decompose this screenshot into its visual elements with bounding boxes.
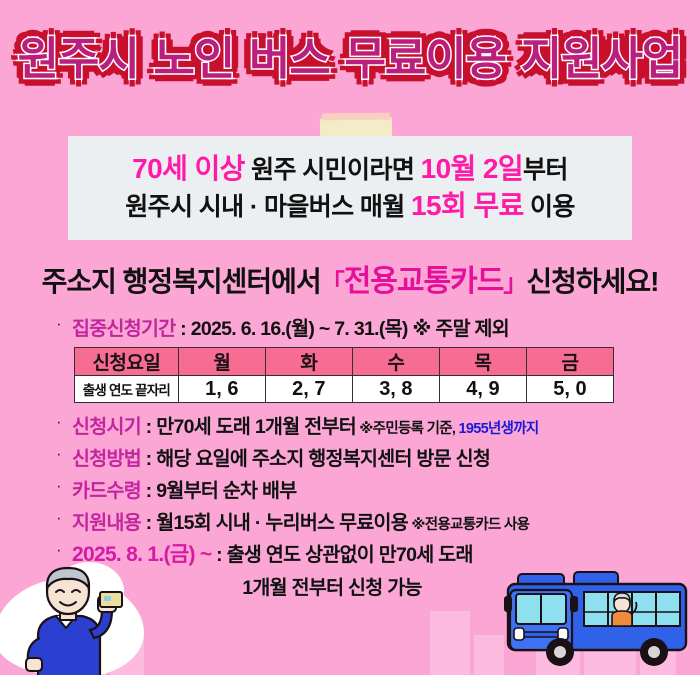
bus-illustration [496,568,696,678]
list-item: · 2025. 8. 1.(금) ~ : 출생 연도 상관없이 만70세 도래 [56,538,656,568]
bullet-note: ※주민등록 기준, [356,421,459,437]
list-item: · 카드수령 : 9월부터 순차 배부 [56,474,656,503]
bullet-note: ※전용교통카드 사용 [408,517,529,533]
table-header-cell: 화 [265,348,352,376]
table-header-cell: 신청요일 [75,348,179,376]
table-row: 출생 연도 끝자리 1, 6 2, 7 3, 8 4, 9 5, 0 [75,376,614,403]
info-date-highlight: 10월 2일 [421,153,523,184]
bullet-label: 신청방법 [72,448,141,470]
poster-root: 원주시 노인 버스 무료이용 지원사업 원주시 노인 버스 무료이용 지원사업 … [0,0,700,700]
table-cell: 2, 7 [265,376,352,403]
bullet-dot-icon: · [56,506,72,531]
list-item: · 지원내용 : 월15회 시내 · 누리버스 무료이용 ※전용교통카드 사용 [56,506,656,535]
bullet-list: · 집중신청기간 : 2025. 6. 16.(월) ~ 7. 31.(목) ※… [56,312,656,600]
info-age-highlight: 70세 이상 [132,153,245,184]
bullet-separator: : [175,318,190,340]
table-row-header: 출생 연도 끝자리 [75,376,179,403]
headline-bracket-open: 「 [321,270,344,297]
info-free-highlight: 15회 무료 [411,190,524,221]
poster-title-shadow: 원주시 노인 버스 무료이용 지원사업 [0,22,700,87]
bullet-separator: : [141,448,156,470]
bullet-separator: : [141,480,156,502]
table-header-cell: 월 [178,348,265,376]
table-header-cell: 수 [352,348,439,376]
list-item: · 신청시기 : 만70세 도래 1개월 전부터 ※주민등록 기준, 1955년… [56,410,656,439]
bullet-note-blue: 1955년생까지 [459,421,539,437]
bullet-text: 출생 연도 상관없이 만70세 도래 [227,544,473,566]
bullet-text: 월15회 시내 · 누리버스 무료이용 [156,512,408,534]
list-item: · 신청방법 : 해당 요일에 주소지 행정복지센터 방문 신청 [56,442,656,471]
info-box-line-2: 원주시 시내 · 마을버스 매월 15회 무료 이용 [125,188,575,225]
info-line1-plain-b: 부터 [523,156,568,184]
table-cell: 3, 8 [352,376,439,403]
bullet-dot-icon: · [56,538,72,563]
elderly-man-svg [8,566,138,678]
list-item: · 집중신청기간 : 2025. 6. 16.(월) ~ 7. 31.(목) ※… [56,312,656,341]
headline: 주소지 행정복지센터에서「전용교통카드」신청하세요! [0,256,700,300]
bullet-text: 해당 요일에 주소지 행정복지센터 방문 신청 [156,448,490,470]
table-header-row: 신청요일 월 화 수 목 금 [75,348,614,376]
bullet-separator: : [141,512,156,534]
bullet-dot-icon: · [56,410,72,435]
bullet-separator: : [141,416,156,438]
application-day-table: 신청요일 월 화 수 목 금 출생 연도 끝자리 1, 6 2, 7 3, 8 [74,347,614,403]
table-header-cell: 금 [526,348,613,376]
bullet-text: 만70세 도래 1개월 전부터 [156,416,356,438]
headline-before: 주소지 행정복지센터에서 [42,266,321,297]
bullet-label: 신청시기 [72,416,141,438]
bullet-label: 지원내용 [72,512,141,534]
bullet-dot-icon: · [56,442,72,467]
info-box: 70세 이상 원주 시민이라면 10월 2일부터 원주시 시내 · 마을버스 매… [68,136,632,240]
bullet-label: 집중신청기간 [72,318,175,340]
bullet-text: 2025. 6. 16.(월) ~ 7. 31.(목) ※ 주말 제외 [191,318,509,340]
bullet-separator: : [211,544,226,566]
elderly-man-illustration [8,566,138,678]
table-cell: 5, 0 [526,376,613,403]
info-line1-plain-a: 원주 시민이라면 [245,156,421,184]
poster-title-outline: 원주시 노인 버스 무료이용 지원사업 [18,22,683,87]
headline-emphasis: 전용교통카드 [344,265,504,298]
headline-bracket-close: 」 [503,270,526,297]
info-box-line-1: 70세 이상 원주 시민이라면 10월 2일부터 [132,151,568,188]
bullet-text: 9월부터 순차 배부 [156,480,296,502]
bullet-note-blue-text: 1955년생까지 [459,421,539,437]
headline-after: 신청하세요! [526,266,658,297]
bus-svg [496,568,696,678]
table-header-cell: 목 [439,348,526,376]
table-cell: 4, 9 [439,376,526,403]
bullet-dot-icon: · [56,474,72,499]
info-line2-plain-a: 원주시 시내 · 마을버스 매월 [125,193,411,221]
info-line2-plain-b: 이용 [524,193,575,221]
bottom-white-strip [0,675,700,700]
table-cell: 1, 6 [178,376,265,403]
bullet-label: 카드수령 [72,480,141,502]
application-day-table-wrapper: 신청요일 월 화 수 목 금 출생 연도 끝자리 1, 6 2, 7 3, 8 [74,347,614,403]
bullet-dot-icon: · [56,312,72,337]
